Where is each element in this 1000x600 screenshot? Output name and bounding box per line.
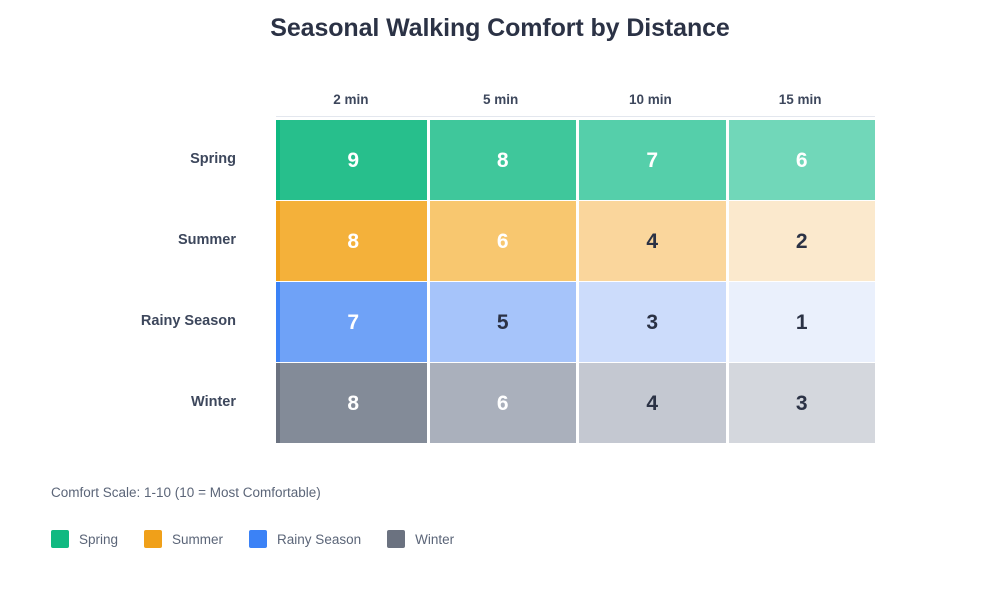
page-title: Seasonal Walking Comfort by Distance (0, 14, 1000, 43)
legend-item[interactable]: Rainy Season (249, 530, 361, 548)
heatmap-cell[interactable]: 8 (276, 363, 427, 443)
legend-label: Summer (172, 532, 223, 547)
heatmap-cell[interactable]: 5 (430, 282, 577, 362)
heatmap-cell[interactable]: 8 (430, 120, 577, 200)
heatmap-cell[interactable]: 4 (579, 363, 726, 443)
column-header: 15 min (725, 92, 875, 107)
heatmap-cell[interactable]: 4 (579, 201, 726, 281)
heatmap-cell[interactable]: 3 (579, 282, 726, 362)
legend: SpringSummerRainy SeasonWinter (51, 530, 480, 548)
legend-item[interactable]: Winter (387, 530, 454, 548)
heatmap-row: 9876 (276, 120, 875, 200)
heatmap-cell[interactable]: 1 (729, 282, 876, 362)
column-header: 10 min (576, 92, 726, 107)
scale-note: Comfort Scale: 1-10 (10 = Most Comfortab… (51, 485, 321, 500)
legend-item[interactable]: Summer (144, 530, 223, 548)
heatmap-chart: Seasonal Walking Comfort by Distance Spr… (0, 0, 1000, 600)
heatmap-cell[interactable]: 7 (276, 282, 427, 362)
heatmap-cell[interactable]: 9 (276, 120, 427, 200)
heatmap-row: 8643 (276, 363, 875, 443)
row-label: Spring (0, 119, 256, 199)
heatmap-grid: 9876864275318643 (276, 116, 875, 443)
legend-label: Rainy Season (277, 532, 361, 547)
heatmap-cell[interactable]: 2 (729, 201, 876, 281)
legend-label: Spring (79, 532, 118, 547)
heatmap-matrix: 2 min5 min10 min15 min 9876864275318643 (276, 82, 875, 443)
column-header: 5 min (426, 92, 576, 107)
legend-swatch-icon (144, 530, 162, 548)
legend-swatch-icon (51, 530, 69, 548)
row-label-column: SpringSummerRainy SeasonWinter (0, 119, 256, 443)
heatmap-cell[interactable]: 6 (430, 201, 577, 281)
heatmap-row: 7531 (276, 282, 875, 362)
row-label: Summer (0, 200, 256, 280)
heatmap-cell[interactable]: 3 (729, 363, 876, 443)
legend-label: Winter (415, 532, 454, 547)
heatmap-cell[interactable]: 8 (276, 201, 427, 281)
legend-item[interactable]: Spring (51, 530, 118, 548)
row-label: Rainy Season (0, 281, 256, 361)
heatmap-cell[interactable]: 6 (729, 120, 876, 200)
heatmap-row: 8642 (276, 201, 875, 281)
column-header: 2 min (276, 92, 426, 107)
column-header-row: 2 min5 min10 min15 min (276, 82, 875, 116)
heatmap-cell[interactable]: 7 (579, 120, 726, 200)
legend-swatch-icon (387, 530, 405, 548)
heatmap-cell[interactable]: 6 (430, 363, 577, 443)
row-label: Winter (0, 362, 256, 442)
legend-swatch-icon (249, 530, 267, 548)
